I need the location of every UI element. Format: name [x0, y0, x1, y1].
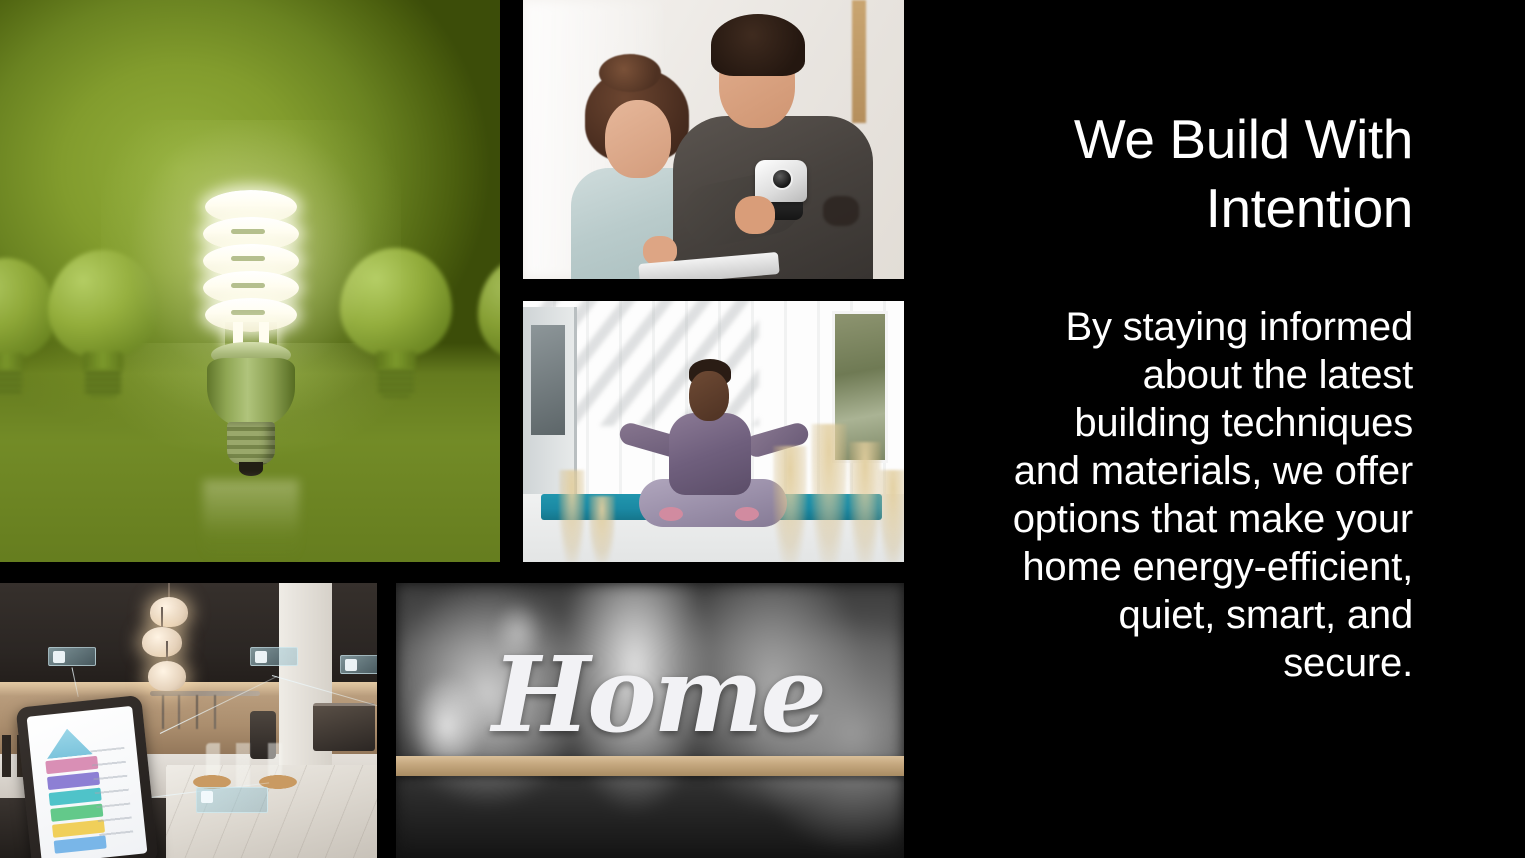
hud-climate-icon: [250, 647, 298, 666]
pampas-grass: [849, 442, 881, 562]
hud-lighting-icon: [48, 647, 96, 666]
image-lightbulb: [0, 0, 500, 562]
image-meditation: [523, 301, 904, 562]
wood-trim: [852, 0, 866, 123]
body-paragraph: By staying informed about the latest bui…: [958, 303, 1413, 687]
image-smart-kitchen: [0, 583, 377, 858]
image-couple-with-camera: [523, 0, 904, 279]
wall-oven: [313, 703, 375, 751]
text-panel: We Build With Intention By staying infor…: [930, 0, 1525, 858]
man-hair: [711, 14, 805, 76]
woman-head: [605, 100, 671, 178]
house-diagram-icon: [44, 726, 93, 759]
forearm-tattoo: [823, 196, 859, 226]
background-bulb-far-right: [478, 258, 500, 398]
man-hand: [735, 196, 775, 234]
hud-device-icon: [196, 787, 268, 813]
pampas-grass: [559, 470, 585, 562]
torso: [669, 413, 751, 495]
image-home-sign: Home: [396, 583, 904, 858]
glowing-cfl-bulb: [197, 190, 305, 480]
right-foot: [735, 507, 759, 521]
wooden-shelf: [396, 756, 904, 776]
left-foot: [659, 507, 683, 521]
pampas-grass: [589, 496, 615, 562]
tablet-screen: [27, 706, 148, 858]
pampas-grass: [773, 446, 807, 562]
camera-lens: [771, 168, 793, 190]
page-title: We Build With Intention: [993, 105, 1413, 244]
pampas-grass: [811, 424, 847, 562]
slide-canvas: Home We Build With Intention By staying …: [0, 0, 1525, 858]
hud-appliance-icon: [340, 655, 377, 674]
pampas-grass: [879, 470, 904, 562]
smart-home-tablet: [16, 695, 159, 858]
head: [689, 371, 729, 421]
home-sign-lettering: Home: [492, 643, 824, 747]
